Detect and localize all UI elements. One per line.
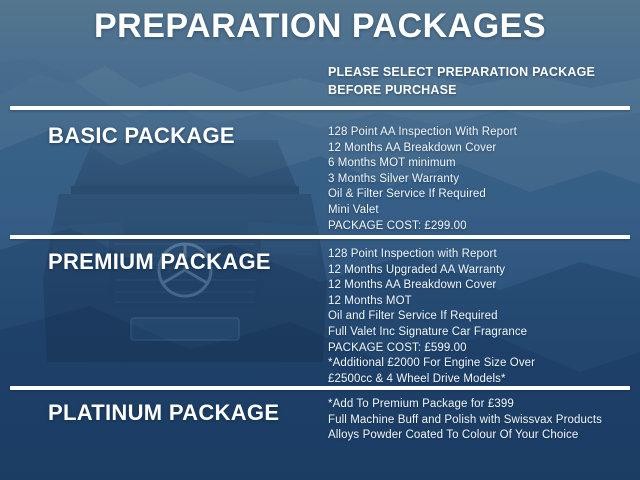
package-title-premium[interactable]: PREMIUM PACKAGE: [48, 249, 271, 275]
feature-item: 3 Months Silver Warranty: [328, 172, 517, 188]
feature-item: 12 Months MOT: [328, 294, 535, 310]
surcharge-note-line-2: £2500cc & 4 Wheel Drive Models*: [328, 372, 535, 388]
package-title-platinum[interactable]: PLATINUM PACKAGE: [48, 400, 279, 426]
divider-above-basic: [10, 106, 630, 110]
feature-item: 12 Months Upgraded AA Warranty: [328, 263, 535, 279]
selection-instruction-line-1: PLEASE SELECT PREPARATION PACKAGE: [328, 63, 595, 81]
surcharge-note-line-1: *Additional £2000 For Engine Size Over: [328, 356, 535, 372]
package-features-premium: 128 Point Inspection with Report 12 Mont…: [328, 247, 535, 387]
feature-item: Oil & Filter Service If Required: [328, 187, 517, 203]
selection-instruction: PLEASE SELECT PREPARATION PACKAGE BEFORE…: [328, 63, 595, 99]
feature-item: 128 Point AA Inspection With Report: [328, 125, 517, 141]
feature-item: Mini Valet: [328, 203, 517, 219]
poster-content: PREPARATION PACKAGES PLEASE SELECT PREPA…: [0, 0, 640, 480]
feature-item: Oil and Filter Service If Required: [328, 309, 535, 325]
divider-above-platinum: [10, 386, 630, 390]
selection-instruction-line-2: BEFORE PURCHASE: [328, 81, 595, 99]
feature-item: Full Machine Buff and Polish with Swissv…: [328, 413, 602, 429]
package-title-basic[interactable]: BASIC PACKAGE: [48, 123, 235, 149]
package-features-platinum: *Add To Premium Package for £399 Full Ma…: [328, 397, 602, 444]
divider-above-premium: [10, 235, 630, 239]
feature-item: 128 Point Inspection with Report: [328, 247, 535, 263]
feature-item: Alloys Powder Coated To Colour Of Your C…: [328, 428, 602, 444]
package-cost-platinum: *Add To Premium Package for £399: [328, 397, 602, 413]
package-features-basic: 128 Point AA Inspection With Report 12 M…: [328, 125, 517, 234]
package-cost-basic: PACKAGE COST: £299.00: [328, 219, 517, 235]
feature-item: 12 Months AA Breakdown Cover: [328, 141, 517, 157]
page-title: PREPARATION PACKAGES: [0, 7, 640, 46]
feature-item: 12 Months AA Breakdown Cover: [328, 278, 535, 294]
feature-item: 6 Months MOT minimum: [328, 156, 517, 172]
package-cost-premium: PACKAGE COST: £599.00: [328, 341, 535, 357]
feature-item: Full Valet Inc Signature Car Fragrance: [328, 325, 535, 341]
preparation-packages-poster: PREPARATION PACKAGES PLEASE SELECT PREPA…: [0, 0, 640, 480]
